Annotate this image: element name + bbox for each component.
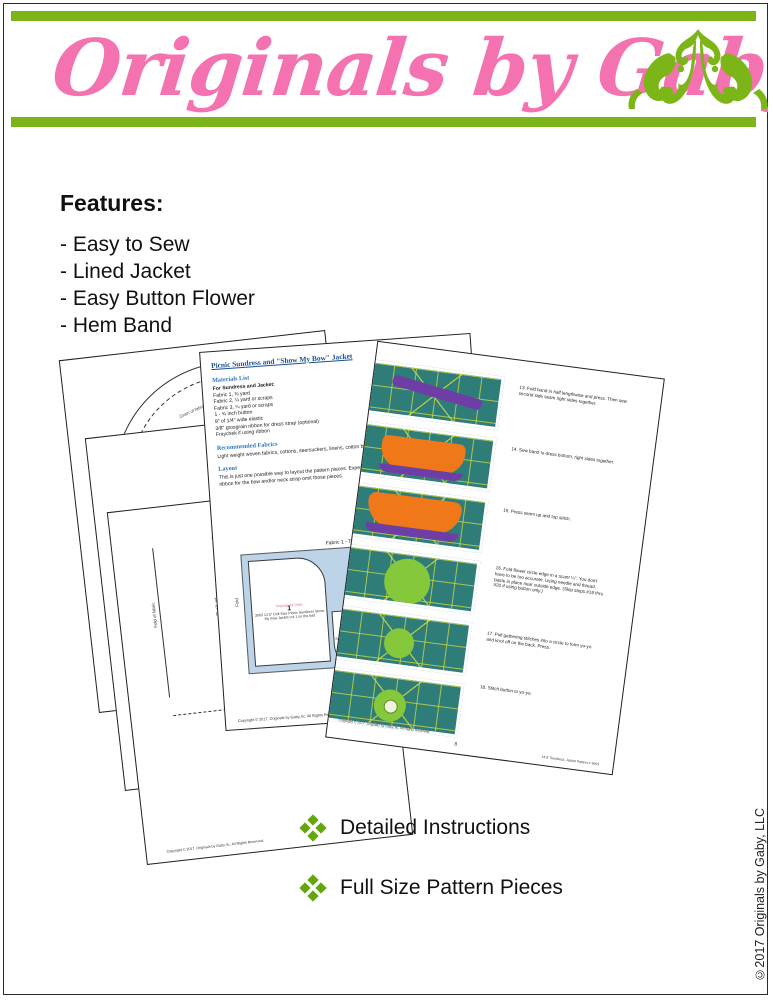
step-photo-dress-band [355, 420, 497, 491]
feature-item: - Easy to Sew [60, 231, 480, 258]
instruction-step: 18. Stitch button to yo-yo. [480, 684, 592, 704]
step-photo-band [363, 359, 505, 430]
features-list: - Easy to Sew - Lined Jacket - Easy Butt… [60, 231, 480, 339]
piece-text: 3003 14.5" Doll Size Picnic Sundress Sho… [252, 609, 326, 623]
sheet-footer: Copyright © 2017, Originals by Gaby, llc… [166, 839, 264, 854]
highlight-label: Full Size Pattern Pieces [340, 876, 563, 900]
green-diamond-cluster-icon [300, 815, 326, 841]
sheet-footer-pattern: 14.5" Sundress, Jacket Pattern # 3003 [541, 755, 599, 767]
instruction-step: 14. Sew band to dress bottom, right side… [511, 446, 623, 466]
header-banner: Originals by Gaby [5, 5, 768, 135]
instructions-sheet: 13. Fold band in half lengthwise and pre… [325, 341, 665, 775]
step-photo-yoyo [330, 605, 472, 676]
instruction-step: 15. Press seam up and top stitch. [503, 508, 615, 528]
green-diamond-cluster-icon [300, 875, 326, 901]
highlights-list: Detailed Instructions Full Size Pattern … [300, 815, 720, 935]
highlight-label: Detailed Instructions [340, 816, 530, 840]
fold-of-fabric-label: Fold of fabric [150, 602, 158, 628]
document-stack-preview: Grain of fabric Originals by Gaby 14.5" … [60, 330, 750, 800]
fold-label: Fold [234, 598, 240, 607]
instruction-step: 17. Pull gathering stitches into a circl… [486, 631, 599, 657]
brand-logo-text: Originals by Gaby [47, 13, 639, 125]
step-photo-flower-circle [339, 543, 481, 614]
floral-flourish-ornament-icon [623, 23, 768, 123]
feature-item: - Easy Button Flower [60, 285, 480, 312]
page-number: 8 [454, 741, 458, 747]
instruction-step: 13. Fold band in half lengthwise and pre… [518, 385, 631, 411]
feature-item: - Lined Jacket [60, 258, 480, 285]
highlight-row: Detailed Instructions [300, 815, 720, 841]
instruction-step: 16. Fold flower circle edge in a scant ¼… [493, 565, 607, 603]
pattern-piece: Originals by Gaby 1 3003 14.5" Doll Size… [248, 556, 331, 667]
features-heading: Features: [60, 190, 480, 217]
copyright-vertical: ©2017 Originals by Gaby, LLC [753, 808, 767, 982]
features-section: Features: - Easy to Sew - Lined Jacket -… [60, 190, 480, 339]
highlight-row: Full Size Pattern Pieces [300, 875, 720, 901]
step-photo-press-seam [347, 482, 489, 553]
